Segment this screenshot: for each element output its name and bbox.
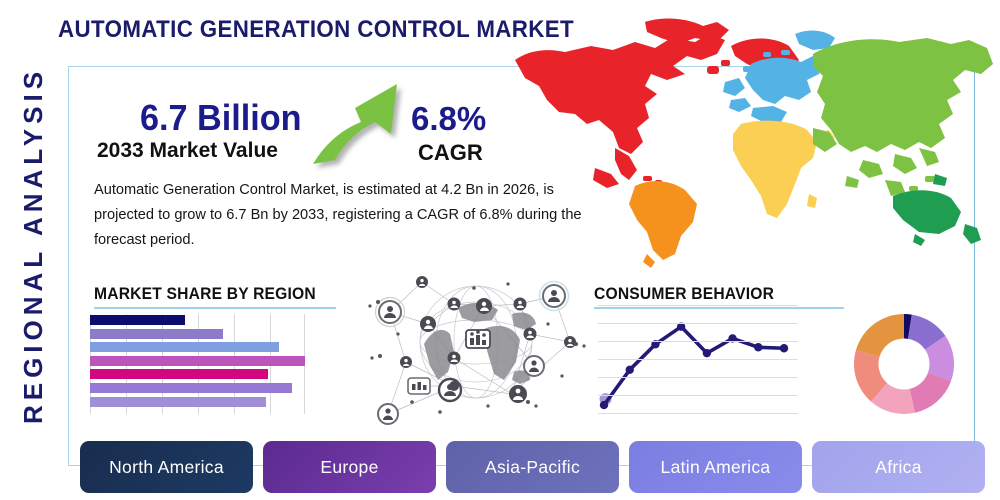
- region-button[interactable]: Asia-Pacific: [446, 441, 619, 493]
- growth-arrow-icon: [311, 78, 415, 172]
- infographic-root: REGIONAL ANALYSIS AUTOMATIC GENERATION C…: [0, 0, 1000, 500]
- bar-chart-bar: [90, 383, 292, 393]
- bar-chart-bar: [90, 397, 266, 407]
- regional-distribution-donut-chart: [852, 312, 956, 416]
- global-network-globe-icon: [362, 268, 590, 430]
- region-button-label: North America: [109, 457, 224, 478]
- consumer-behavior-line-chart: [598, 303, 798, 419]
- market-value-number: 6.7 Billion: [140, 97, 302, 139]
- region-button[interactable]: Latin America: [629, 441, 802, 493]
- bar-chart-bar: [90, 329, 223, 339]
- region-button[interactable]: Africa: [812, 441, 985, 493]
- bar-chart-bar: [90, 315, 185, 325]
- world-map-graphic: [495, 8, 1000, 270]
- region-button-label: Asia-Pacific: [485, 457, 580, 478]
- line-chart-gridlines: [598, 303, 798, 419]
- side-label: REGIONAL ANALYSIS: [8, 40, 60, 450]
- region-button[interactable]: Europe: [263, 441, 436, 493]
- bar-chart-bar: [90, 356, 305, 366]
- market-value-caption: 2033 Market Value: [97, 139, 278, 163]
- region-button[interactable]: North America: [80, 441, 253, 493]
- bar-chart-bar: [90, 369, 268, 379]
- market-share-by-region-bar-chart: [90, 314, 305, 414]
- cagr-number: 6.8%: [411, 100, 486, 138]
- side-label-text: REGIONAL ANALYSIS: [19, 66, 50, 423]
- region-button-label: Latin America: [661, 457, 771, 478]
- region-button-row: North AmericaEuropeAsia-PacificLatin Ame…: [80, 441, 985, 493]
- cagr-caption: CAGR: [418, 140, 483, 166]
- donut-segment: [856, 314, 904, 357]
- consumer-behavior-section-header: CONSUMER BEHAVIOR: [594, 284, 774, 304]
- market-share-header-rule: [94, 307, 336, 309]
- region-button-label: Africa: [875, 457, 922, 478]
- market-share-section-header: MARKET SHARE BY REGION: [94, 284, 316, 304]
- region-button-label: Europe: [320, 457, 378, 478]
- bar-chart-bar: [90, 342, 279, 352]
